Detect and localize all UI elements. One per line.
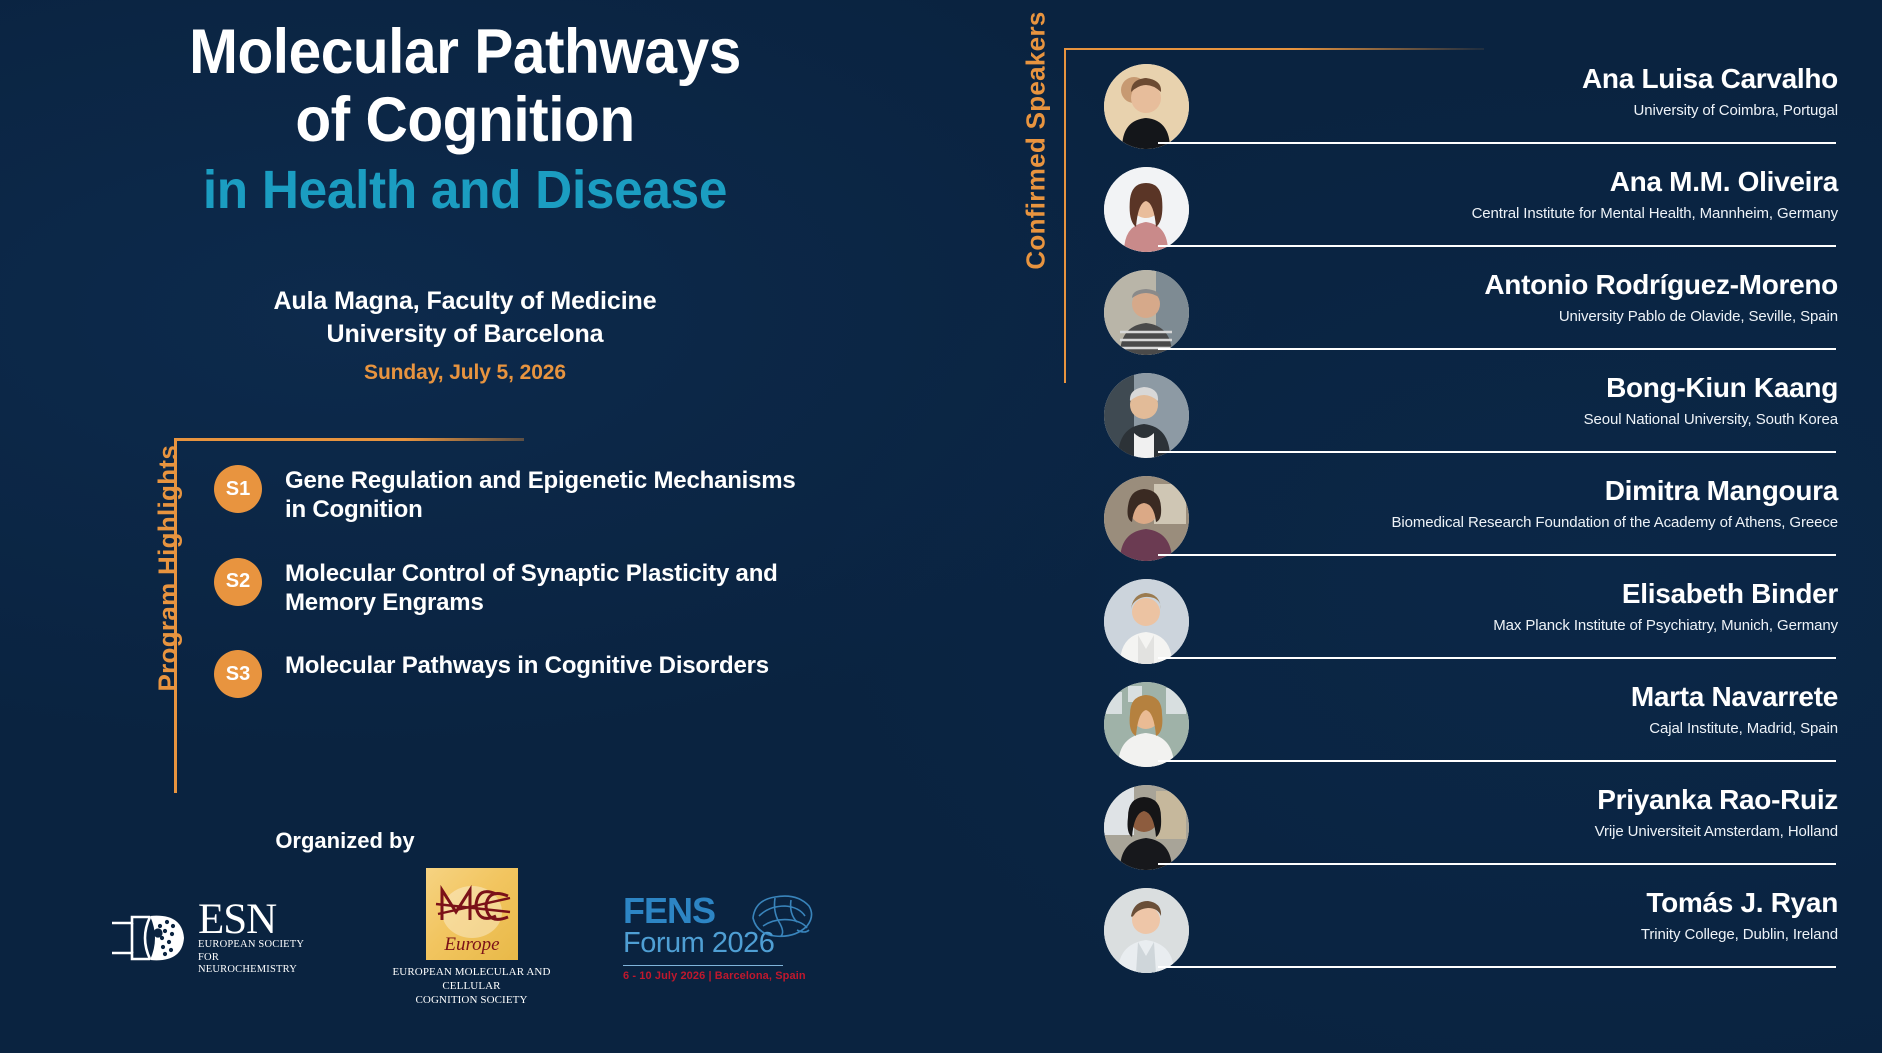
speaker-name: Marta Navarrete bbox=[1204, 682, 1838, 713]
session-badge-s2: S2 bbox=[214, 558, 262, 606]
esn-subtitle-line-1: EUROPEAN SOCIETY FOR bbox=[198, 939, 320, 964]
title-subtitle: in Health and Disease bbox=[23, 160, 907, 220]
speaker-row: Bong-Kiun Kaang Seoul National Universit… bbox=[1086, 367, 1846, 470]
speaker-row: Antonio Rodríguez-Moreno University Pabl… bbox=[1086, 264, 1846, 367]
avatar bbox=[1104, 476, 1189, 561]
esn-wordmark: ESN EUROPEAN SOCIETY FOR NEUROCHEMISTRY bbox=[198, 900, 320, 977]
title-block: Molecular Pathways of Cognition in Healt… bbox=[0, 18, 930, 221]
avatar bbox=[1104, 785, 1189, 870]
speaker-name: Dimitra Mangoura bbox=[1204, 476, 1838, 507]
svg-text:Europe: Europe bbox=[443, 934, 499, 955]
fens-dates: 6 - 10 July 2026 | Barcelona, Spain bbox=[623, 970, 823, 982]
speaker-affiliation: Seoul National University, South Korea bbox=[1204, 410, 1838, 430]
mccs-logo: Europe EUROPEAN MOLECULAR AND CELLULAR C… bbox=[364, 868, 579, 1007]
avatar bbox=[1104, 579, 1189, 664]
speaker-divider bbox=[1158, 760, 1836, 762]
mccs-subtitle-line-1: EUROPEAN MOLECULAR AND CELLULAR bbox=[364, 966, 579, 994]
organized-by-label: Organized by bbox=[0, 828, 690, 854]
speaker-name: Ana M.M. Oliveira bbox=[1204, 167, 1838, 198]
title-line-1: Molecular Pathways bbox=[33, 18, 898, 86]
speaker-divider bbox=[1158, 451, 1836, 453]
speaker-affiliation: University of Coimbra, Portugal bbox=[1204, 101, 1838, 121]
speaker-name: Elisabeth Binder bbox=[1204, 579, 1838, 610]
speaker-row: Dimitra Mangoura Biomedical Research Fou… bbox=[1086, 470, 1846, 573]
speaker-row: Ana Luisa Carvalho University of Coimbra… bbox=[1086, 58, 1846, 161]
venue-line-1: Aula Magna, Faculty of Medicine bbox=[0, 285, 930, 318]
speaker-name: Antonio Rodríguez-Moreno bbox=[1204, 270, 1838, 301]
speaker-affiliation: Vrije Universiteit Amsterdam, Holland bbox=[1204, 822, 1838, 842]
speaker-row: Ana M.M. Oliveira Central Institute for … bbox=[1086, 161, 1846, 264]
speaker-divider bbox=[1158, 657, 1836, 659]
speaker-name: Tomás J. Ryan bbox=[1204, 888, 1838, 919]
program-item-list: S1 Gene Regulation and Epigenetic Mechan… bbox=[214, 463, 814, 729]
venue-block: Aula Magna, Faculty of Medicine Universi… bbox=[0, 285, 930, 385]
esn-acronym: ESN bbox=[198, 900, 320, 940]
speaker-info: Ana Luisa Carvalho University of Coimbra… bbox=[1204, 64, 1846, 120]
speaker-divider bbox=[1158, 966, 1836, 968]
speaker-row: Priyanka Rao-Ruiz Vrije Universiteit Ams… bbox=[1086, 779, 1846, 882]
speaker-info: Marta Navarrete Cajal Institute, Madrid,… bbox=[1204, 682, 1846, 738]
left-column: Molecular Pathways of Cognition in Healt… bbox=[0, 0, 980, 1053]
program-item: S3 Molecular Pathways in Cognitive Disor… bbox=[214, 648, 814, 698]
speaker-divider bbox=[1158, 863, 1836, 865]
speaker-name: Priyanka Rao-Ruiz bbox=[1204, 785, 1838, 816]
program-highlights-section: Program Highlights S1 Gene Regulation an… bbox=[122, 438, 822, 798]
fens-divider bbox=[623, 965, 783, 966]
esn-synapse-icon bbox=[110, 907, 194, 969]
avatar bbox=[1104, 167, 1189, 252]
speaker-divider bbox=[1158, 245, 1836, 247]
speaker-row: Tomás J. Ryan Trinity College, Dublin, I… bbox=[1086, 882, 1846, 985]
esn-subtitle-line-2: NEUROCHEMISTRY bbox=[198, 964, 320, 976]
program-item: S2 Molecular Control of Synaptic Plastic… bbox=[214, 556, 814, 618]
speaker-affiliation: Max Planck Institute of Psychiatry, Muni… bbox=[1204, 616, 1838, 636]
speaker-affiliation: University Pablo de Olavide, Seville, Sp… bbox=[1204, 307, 1838, 327]
mccs-subtitle-line-2: COGNITION SOCIETY bbox=[364, 994, 579, 1008]
speaker-info: Priyanka Rao-Ruiz Vrije Universiteit Ams… bbox=[1204, 785, 1846, 841]
speaker-info: Dimitra Mangoura Biomedical Research Fou… bbox=[1204, 476, 1846, 532]
brain-icon bbox=[745, 888, 817, 948]
program-section-label: Program Highlights bbox=[153, 452, 184, 692]
speaker-divider bbox=[1158, 348, 1836, 350]
speaker-affiliation: Cajal Institute, Madrid, Spain bbox=[1204, 719, 1838, 739]
mccs-mark-icon: Europe bbox=[426, 868, 518, 960]
speaker-row: Marta Navarrete Cajal Institute, Madrid,… bbox=[1086, 676, 1846, 779]
session-badge-s3: S3 bbox=[214, 650, 262, 698]
avatar bbox=[1104, 270, 1189, 355]
speaker-info: Tomás J. Ryan Trinity College, Dublin, I… bbox=[1204, 888, 1846, 944]
fens-logo: FENS Forum 2026 6 - 10 July 2026 | Barce… bbox=[623, 894, 823, 983]
session-title-s1: Gene Regulation and Epigenetic Mechanism… bbox=[285, 463, 814, 525]
title-line-2: of Cognition bbox=[33, 86, 898, 154]
session-title-s3: Molecular Pathways in Cognitive Disorder… bbox=[285, 648, 769, 680]
speaker-affiliation: Biomedical Research Foundation of the Ac… bbox=[1204, 513, 1838, 533]
speaker-info: Bong-Kiun Kaang Seoul National Universit… bbox=[1204, 373, 1846, 429]
program-item: S1 Gene Regulation and Epigenetic Mechan… bbox=[214, 463, 814, 525]
speaker-divider bbox=[1158, 142, 1836, 144]
right-column: Confirmed Speakers Ana Luisa Carvalho Un… bbox=[1000, 0, 1882, 1053]
venue-line-2: University of Barcelona bbox=[0, 318, 930, 351]
avatar bbox=[1104, 682, 1189, 767]
esn-logo: ESN EUROPEAN SOCIETY FOR NEUROCHEMISTRY bbox=[110, 900, 320, 977]
speaker-name: Ana Luisa Carvalho bbox=[1204, 64, 1838, 95]
conference-poster: Molecular Pathways of Cognition in Healt… bbox=[0, 0, 1882, 1053]
speaker-info: Elisabeth Binder Max Planck Institute of… bbox=[1204, 579, 1846, 635]
speaker-info: Ana M.M. Oliveira Central Institute for … bbox=[1204, 167, 1846, 223]
session-title-s2: Molecular Control of Synaptic Plasticity… bbox=[285, 556, 814, 618]
speaker-affiliation: Central Institute for Mental Health, Man… bbox=[1204, 204, 1838, 224]
speaker-divider bbox=[1158, 554, 1836, 556]
avatar bbox=[1104, 64, 1189, 149]
speaker-affiliation: Trinity College, Dublin, Ireland bbox=[1204, 925, 1838, 945]
speaker-name: Bong-Kiun Kaang bbox=[1204, 373, 1838, 404]
speakers-section-label: Confirmed Speakers bbox=[1021, 11, 1052, 271]
event-date: Sunday, July 5, 2026 bbox=[0, 361, 930, 385]
avatar bbox=[1104, 373, 1189, 458]
speaker-info: Antonio Rodríguez-Moreno University Pabl… bbox=[1204, 270, 1846, 326]
avatar bbox=[1104, 888, 1189, 973]
speaker-list: Ana Luisa Carvalho University of Coimbra… bbox=[1086, 58, 1846, 985]
session-badge-s1: S1 bbox=[214, 465, 262, 513]
organizer-logos: ESN EUROPEAN SOCIETY FOR NEUROCHEMISTRY bbox=[110, 868, 830, 1008]
speaker-row: Elisabeth Binder Max Planck Institute of… bbox=[1086, 573, 1846, 676]
